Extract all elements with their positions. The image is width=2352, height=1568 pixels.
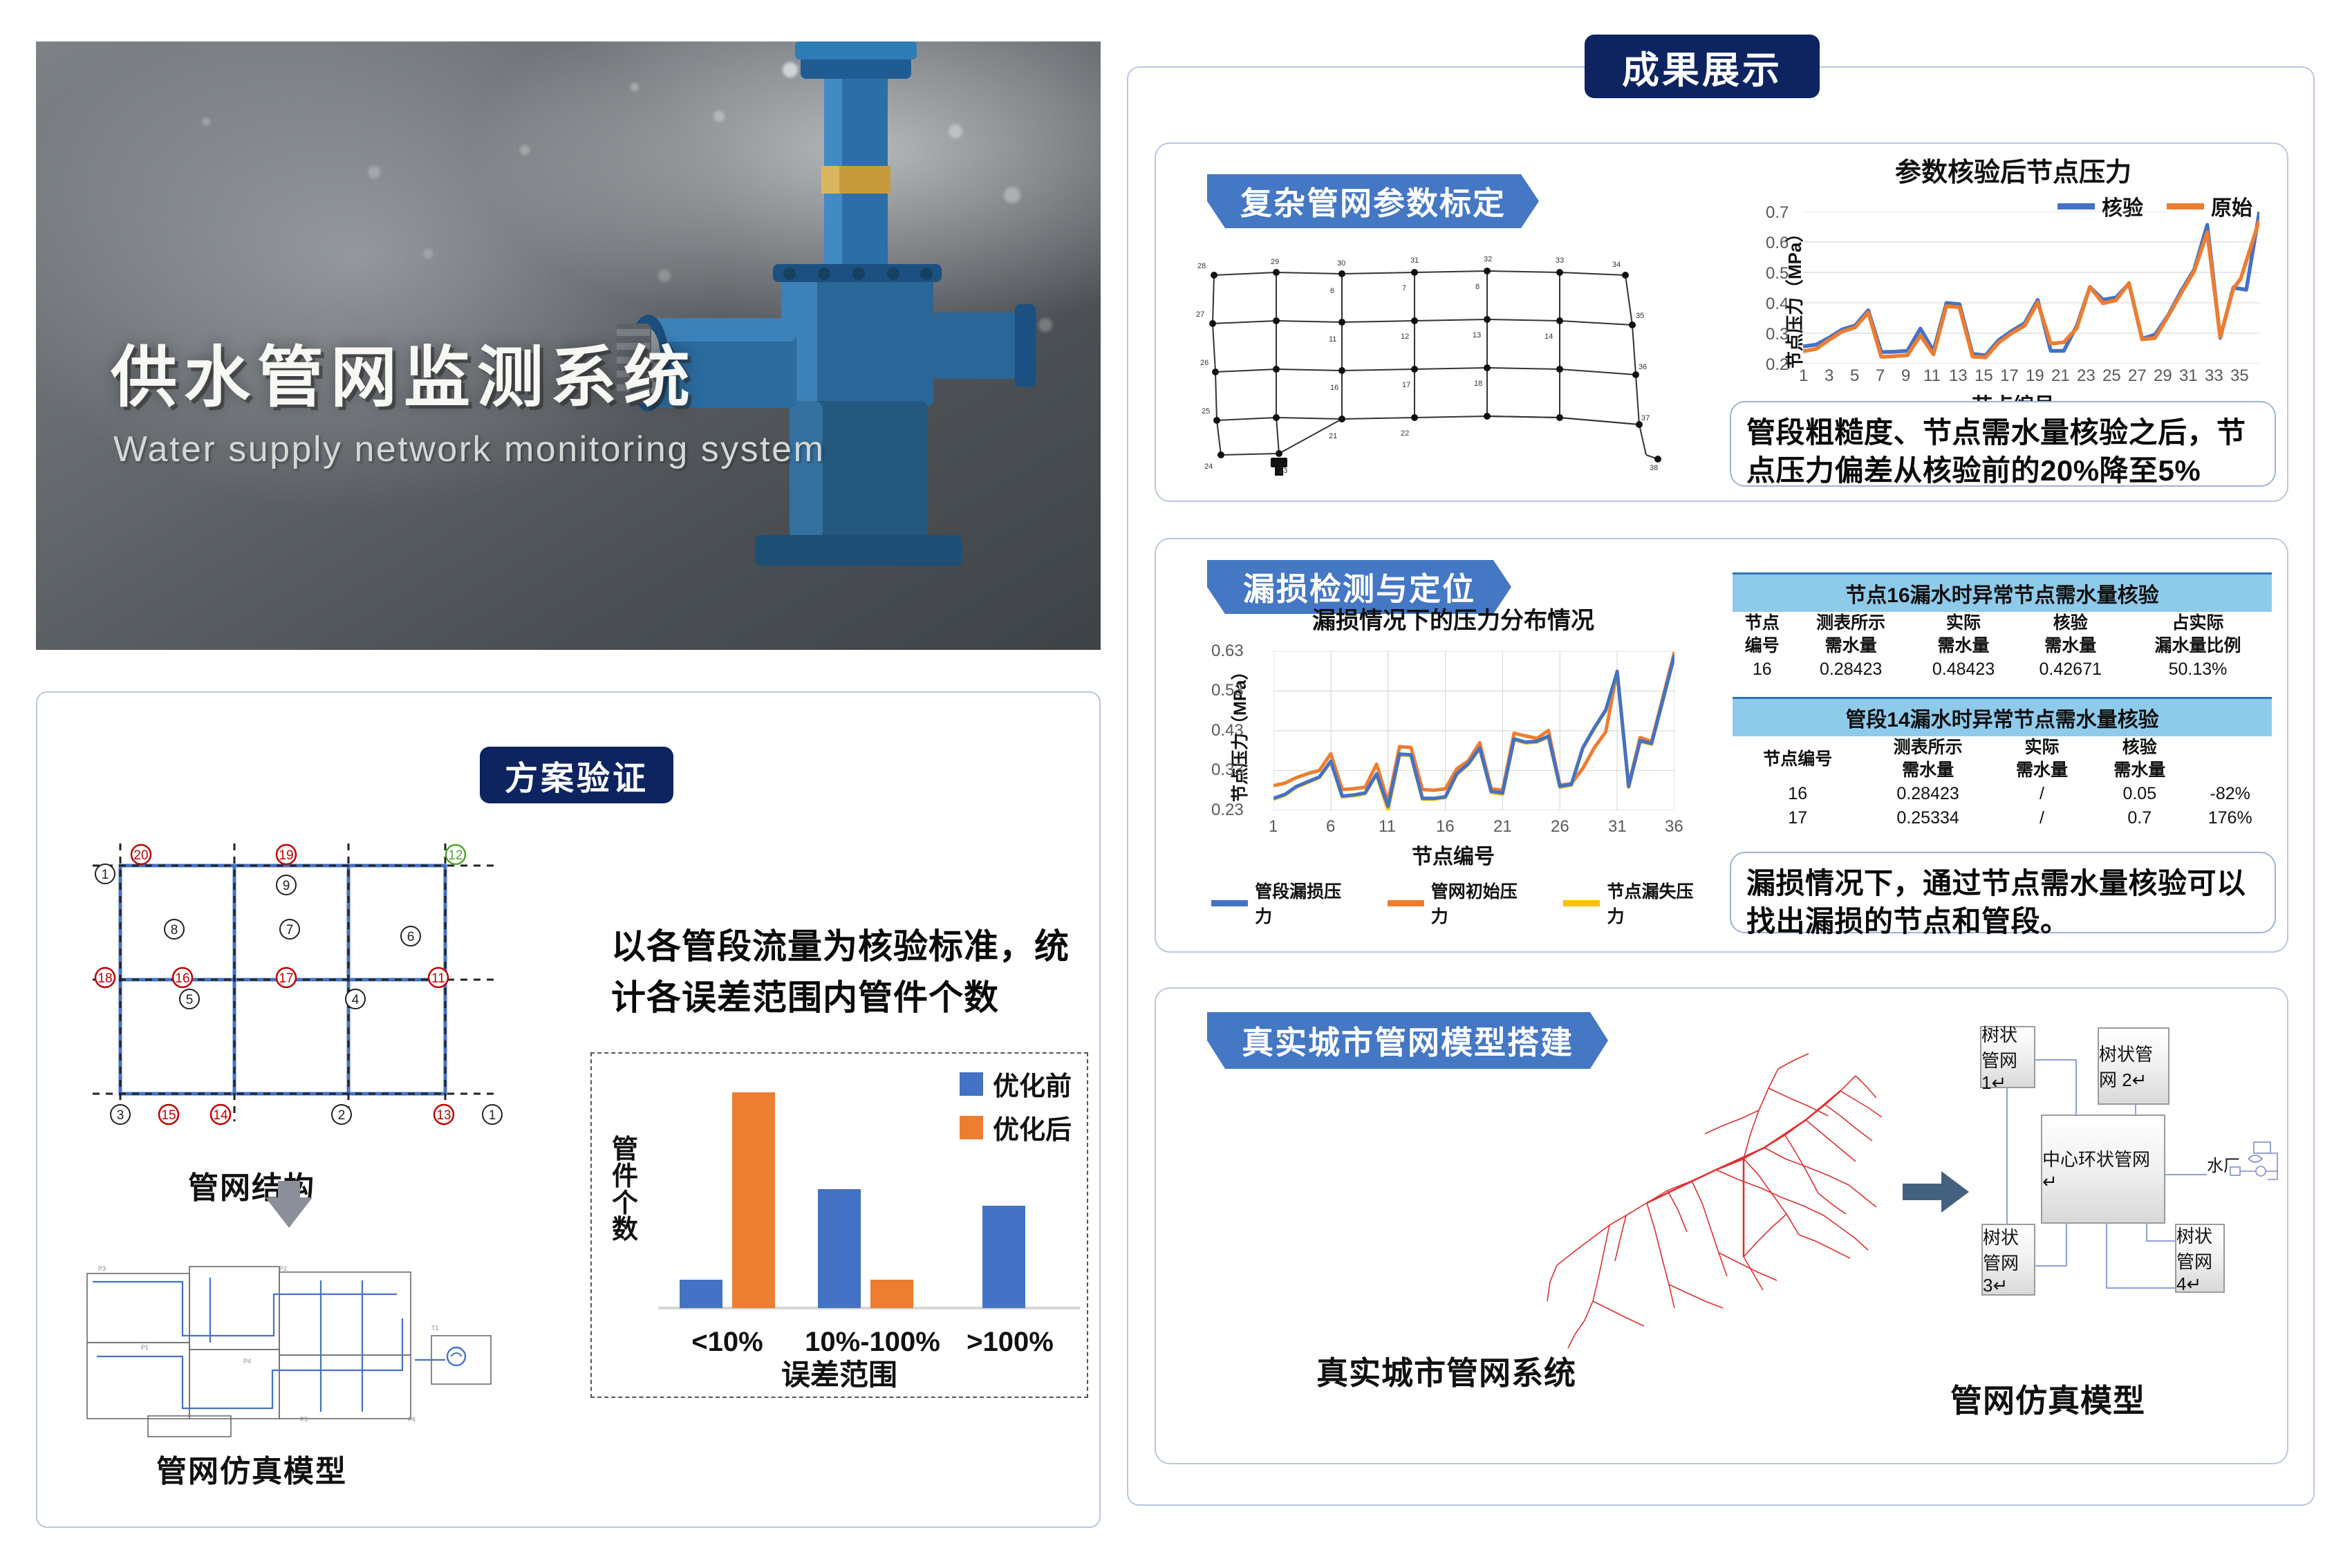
pipe-network-simulation-diagram: P3P2 P1P4 P5P6 T1 — [72, 1253, 528, 1446]
hero-subtitle: Water supply network monitoring system — [113, 429, 825, 470]
table2-cell-1-4: 176% — [2188, 806, 2272, 830]
svg-text:37: 37 — [1641, 414, 1650, 422]
arrow-down-icon — [265, 1197, 312, 1228]
connector-2 — [2075, 1059, 2077, 1114]
table2-cell-0-4: -82% — [2188, 782, 2272, 806]
chart1-xtick-17: 35 — [2230, 366, 2249, 386]
table2-cell-0-1: 0.28423 — [1863, 782, 1992, 806]
section-city-model: 真实城市管网模型搭建 — [1155, 987, 2288, 1464]
svg-text:14: 14 — [1544, 333, 1553, 341]
bar-post-0 — [732, 1092, 775, 1308]
table1-cell-0-3: 0.42671 — [2017, 657, 2124, 682]
section2-conclusion: 漏损情况下，通过节点需水量核验可以找出漏损的节点和管段。 — [1730, 852, 2276, 933]
bar-group-2 — [935, 1081, 1073, 1308]
chart1-ytick-0: 0.2 — [1766, 355, 1789, 375]
pipe-network-structure-diagram: 20 19 12 1 9 8 7 6 18 16 17 11 5 4 3 15 … — [79, 831, 521, 1156]
bar-chart-xlabel: 误差范围 — [592, 1352, 1087, 1394]
svg-text:5: 5 — [186, 993, 194, 1007]
table2-title: 管段14漏水时异常节点需水量核验 — [1733, 698, 2272, 737]
table1-header-top-3: 核验 — [2017, 612, 2124, 635]
table2-cell-1-3: 0.7 — [2091, 806, 2188, 830]
connector-8 — [2106, 1287, 2175, 1289]
svg-text:11: 11 — [1329, 335, 1336, 344]
table2-header-bottom-1: 需水量 — [1863, 759, 1992, 782]
chart1-ytick-3: 0.5 — [1766, 264, 1789, 283]
table1-title: 节点16漏水时异常节点需水量核验 — [1733, 574, 2272, 613]
chart2-ytick-2: 0.43 — [1211, 721, 1244, 740]
svg-text:1: 1 — [489, 1108, 496, 1123]
block-label-central: 中心环状管网↵ — [2042, 1146, 2164, 1193]
chart2-xtick-0: 1 — [1269, 817, 1278, 837]
table2-cell-0-2: / — [1993, 782, 2091, 806]
sec1-banner: 复杂管网参数标定 — [1207, 174, 1539, 228]
error-range-bar-chart: 优化前 优化后 管件个数 — [590, 1052, 1088, 1398]
node-pressure-chart: 参数核验后节点压力 节点压力（MPa） 核验 原始 — [1751, 151, 2276, 427]
svg-text:9: 9 — [283, 879, 290, 893]
connector-10 — [2146, 1240, 2176, 1242]
table1-header-top-2: 实际 — [1910, 612, 2017, 635]
svg-text:31: 31 — [1410, 256, 1419, 265]
svg-text:T1: T1 — [431, 1325, 439, 1332]
table1-cell-0-4: 50.13% — [2124, 657, 2272, 682]
table2-cell-1-0: 17 — [1733, 806, 1863, 830]
bar-pre-0 — [680, 1280, 722, 1308]
svg-text:P5: P5 — [300, 1416, 308, 1423]
bar-group-0 — [658, 1081, 796, 1308]
svg-text:P6: P6 — [408, 1416, 416, 1423]
legend-item-pipe-leak: 管段漏损压力 — [1211, 878, 1357, 928]
table2-cell-0-0: 16 — [1733, 782, 1863, 806]
table1-header-top-1: 测表所示 — [1792, 612, 1910, 635]
chart2-xtick-2: 11 — [1379, 817, 1396, 837]
chart1-xtick-11: 23 — [2077, 366, 2096, 386]
chart1-ytick-2: 0.4 — [1766, 295, 1789, 314]
svg-text:P1: P1 — [141, 1344, 149, 1351]
chart1-ytick-4: 0.6 — [1766, 234, 1789, 253]
chart1-xtick-9: 19 — [2026, 366, 2044, 386]
svg-text:29: 29 — [1271, 258, 1279, 266]
legend-item-node-loss: 节点漏失压力 — [1563, 878, 1709, 928]
city-network-map — [1543, 1030, 1903, 1355]
legend-line-initial — [1388, 900, 1424, 906]
svg-text:24: 24 — [1204, 463, 1213, 471]
table2-header-top-3: 核验 — [2091, 736, 2188, 759]
hero-image: 供水管网监测系统 Water supply network monitoring… — [36, 41, 1101, 650]
svg-text:25: 25 — [1202, 407, 1210, 416]
results-badge: 成果展示 — [1585, 35, 1820, 98]
chart2-xtick-1: 6 — [1326, 817, 1335, 837]
svg-text:13: 13 — [436, 1108, 451, 1123]
svg-text:4: 4 — [352, 993, 360, 1007]
table-row: 16 0.28423 / 0.05 -82% — [1733, 782, 2272, 806]
svg-text:18: 18 — [97, 971, 112, 986]
table-pipe14-leak: 管段14漏水时异常节点需水量核验 节点编号 测表所示 实际 核验 需水量 需水量… — [1733, 697, 2272, 830]
svg-text:19: 19 — [279, 848, 293, 863]
table-row: 17 0.25334 / 0.7 176% — [1733, 806, 2272, 830]
table2-header-top-4 — [2188, 736, 2272, 759]
block-tree-network-1: 树状管网 1↵ — [1980, 1026, 2035, 1088]
svg-text:2: 2 — [338, 1108, 346, 1123]
svg-text:16: 16 — [175, 971, 189, 986]
bar-pre-2 — [982, 1206, 1025, 1308]
legend-label-pipe-leak: 管段漏损压力 — [1255, 878, 1357, 928]
svg-text:35: 35 — [1636, 312, 1644, 320]
table1-header-bottom-1: 需水量 — [1792, 635, 1910, 657]
bar-post-1 — [870, 1280, 913, 1308]
svg-text:22: 22 — [1401, 429, 1409, 438]
table2-cell-1-2: / — [1993, 806, 2091, 830]
leak-pressure-chart: 漏损情况下的压力分布情况 节点压力（MPa） — [1197, 601, 1709, 933]
connector-11 — [2165, 1174, 2207, 1175]
svg-text:26: 26 — [1200, 359, 1208, 367]
svg-text:P3: P3 — [98, 1265, 106, 1272]
chart1-xtick-1: 3 — [1824, 366, 1833, 386]
svg-text:13: 13 — [1473, 331, 1481, 339]
chart1-ytick-5: 0.7 — [1766, 203, 1789, 223]
table-node16-leak: 节点16漏水时异常节点需水量核验 节点 测表所示 实际 核验 占实际 编号 需水… — [1733, 572, 2272, 682]
scheme-description: 以各管段流量为核验标准，统计各误差范围内管件个数 — [611, 921, 1095, 1023]
left-column: 供水管网监测系统 Water supply network monitoring… — [36, 41, 1101, 1528]
svg-text:1: 1 — [102, 868, 109, 882]
block-label-tree-3: 树状管网 3↵ — [1983, 1224, 2034, 1296]
bar-chart-plot — [658, 1081, 1074, 1308]
block-label-tree-1: 树状管网 1↵ — [1981, 1021, 2034, 1094]
section-parameter-calibration: 复杂管网参数标定 — [1155, 142, 2288, 502]
chart1-xtick-16: 33 — [2205, 366, 2223, 386]
city-network-label: 真实城市管网系统 — [1267, 1348, 1626, 1394]
chart1-plot — [1803, 212, 2259, 364]
chart1-ytick-1: 0.3 — [1766, 325, 1789, 344]
chart1-xtick-13: 27 — [2128, 366, 2147, 386]
svg-text:3: 3 — [117, 1108, 124, 1123]
legend-line-calibrated — [2057, 203, 2095, 209]
block-central-loop-network: 中心环状管网↵ — [2041, 1114, 2165, 1224]
legend-line-node-loss — [1563, 900, 1600, 906]
chart2-title: 漏损情况下的压力分布情况 — [1197, 601, 1709, 635]
svg-text:6: 6 — [407, 930, 415, 944]
svg-text:32: 32 — [1484, 255, 1492, 263]
block-tree-network-4: 树状管网 4↵ — [2175, 1224, 2225, 1293]
block-tree-network-2: 树状管网 2↵ — [2098, 1027, 2169, 1105]
bar-group-1 — [796, 1081, 935, 1308]
table1-cell-0-2: 0.48423 — [1910, 657, 2017, 682]
connector-9 — [2146, 1224, 2147, 1242]
chart2-ytick-3: 0.53 — [1211, 681, 1244, 700]
chart2-xtick-6: 31 — [1608, 817, 1627, 837]
svg-text:36: 36 — [1639, 363, 1647, 371]
connector-3 — [2006, 1085, 2008, 1224]
legend-line-original — [2167, 203, 2204, 209]
chart2-ytick-0: 0.23 — [1211, 801, 1244, 820]
svg-text:P2: P2 — [279, 1265, 287, 1272]
table2-header-node: 节点编号 — [1733, 736, 1863, 782]
svg-text:14: 14 — [213, 1108, 228, 1123]
table1-header-top-4: 占实际 — [2124, 612, 2272, 635]
chart2-xlabel: 节点编号 — [1197, 839, 1709, 870]
table2-header-bottom-4 — [2188, 759, 2272, 782]
table2-header-bottom-2: 需水量 — [1993, 759, 2091, 782]
legend-item-initial: 管网初始压力 — [1388, 878, 1533, 928]
svg-text:7: 7 — [1402, 284, 1406, 292]
chart1-xtick-15: 31 — [2179, 366, 2198, 386]
legend-line-pipe-leak — [1211, 900, 1248, 906]
svg-text:27: 27 — [1196, 310, 1204, 319]
chart2-ytick-1: 0.33 — [1211, 760, 1244, 780]
svg-text:7: 7 — [286, 923, 294, 937]
scheme-validation-card: 方案验证 20 19 12 1 — [36, 691, 1101, 1528]
chart2-xtick-3: 16 — [1436, 817, 1455, 837]
svg-text:8: 8 — [1475, 283, 1480, 291]
chart1-xtick-2: 5 — [1850, 366, 1859, 386]
chart1-xtick-10: 21 — [2051, 366, 2070, 386]
legend-label-node-loss: 节点漏失压力 — [1607, 878, 1709, 928]
svg-text:20: 20 — [133, 848, 148, 863]
table1-header-bottom-0: 编号 — [1733, 635, 1792, 657]
svg-text:15: 15 — [161, 1108, 176, 1123]
block-label-tree-2: 树状管网 2↵ — [2099, 1040, 2168, 1092]
svg-text:33: 33 — [1556, 256, 1564, 265]
chart2-legend: 管段漏损压力 管网初始压力 节点漏失压力 — [1211, 878, 1709, 928]
svg-text:16: 16 — [1330, 384, 1338, 392]
table2-header-top-1: 测表所示 — [1863, 736, 1992, 759]
connector-7 — [2106, 1224, 2107, 1289]
table1-header-bottom-4: 漏水量比例 — [2124, 635, 2272, 657]
svg-text:34: 34 — [1612, 261, 1621, 269]
legend-label-initial: 管网初始压力 — [1431, 878, 1533, 928]
simulation-model-label: 管网仿真模型 — [1854, 1376, 2241, 1421]
chart2-ytick-4: 0.63 — [1211, 642, 1244, 661]
svg-text:23: 23 — [1279, 467, 1287, 475]
table1-cell-0-1: 0.28423 — [1792, 657, 1910, 682]
chart2-xtick-7: 36 — [1665, 817, 1683, 837]
svg-text:6: 6 — [1330, 287, 1334, 295]
chart1-xtick-8: 17 — [2000, 366, 2019, 386]
hero-title: 供水管网监测系统 — [111, 324, 697, 420]
table2-header-bottom-3: 需水量 — [2091, 759, 2188, 782]
chart1-xtick-3: 7 — [1876, 366, 1885, 386]
svg-text:18: 18 — [1474, 380, 1482, 388]
svg-text:17: 17 — [279, 971, 293, 986]
chart1-xtick-7: 15 — [1975, 366, 1993, 386]
connector-5 — [2066, 1224, 2067, 1267]
simulation-block-diagram: 树状管网 1↵ 树状管网 2↵ 中心环状管网↵ 树状管网 3↵ 树状管网 4↵ … — [1937, 1016, 2283, 1362]
pipe-sim-label: 管网仿真模型 — [58, 1446, 445, 1491]
block-tree-network-3: 树状管网 3↵ — [1981, 1224, 2035, 1296]
pipe-structure-label: 管网结构 — [58, 1163, 445, 1207]
table2-header-top-2: 实际 — [1993, 736, 2091, 759]
table2-cell-0-3: 0.05 — [2091, 782, 2188, 806]
chart2-xtick-4: 21 — [1493, 817, 1512, 837]
svg-text:28: 28 — [1197, 262, 1206, 270]
svg-text:11: 11 — [431, 971, 445, 986]
table2-cell-1-1: 0.25334 — [1863, 806, 1992, 830]
scheme-validation-badge: 方案验证 — [480, 747, 673, 803]
svg-text:8: 8 — [171, 923, 178, 937]
results-panel: 成果展示 复杂管网参数标定 — [1127, 66, 2315, 1506]
section1-conclusion: 管段粗糙度、节点需水量核验之后，节点压力偏差从核验前的20%降至5% — [1730, 401, 2276, 487]
table1-header-bottom-3: 需水量 — [2017, 635, 2124, 657]
chart1-xtick-14: 29 — [2154, 366, 2172, 386]
chart1-xtick-0: 1 — [1799, 366, 1808, 386]
grid-network-diagram: 282930 313233 34 2735 2636 2537 242338 6… — [1193, 248, 1677, 483]
chart1-xtick-12: 25 — [2102, 366, 2121, 386]
bar-chart-ylabel: 管件个数 — [604, 1137, 646, 1244]
chart2-plot — [1273, 651, 1674, 810]
table1-cell-0-0: 16 — [1733, 657, 1792, 682]
chart1-title: 参数核验后节点压力 — [1751, 151, 2276, 189]
svg-text:30: 30 — [1337, 259, 1345, 268]
svg-text:38: 38 — [1650, 464, 1658, 472]
chart1-xtick-5: 11 — [1923, 366, 1941, 386]
chart1-xtick-6: 13 — [1949, 366, 1968, 386]
svg-text:21: 21 — [1329, 432, 1337, 440]
svg-text:12: 12 — [1401, 333, 1409, 341]
table1-header-top-0: 节点 — [1733, 612, 1792, 635]
block-label-tree-4: 树状管网 4↵ — [2176, 1222, 2223, 1295]
table-row: 16 0.28423 0.48423 0.42671 50.13% — [1733, 657, 2272, 682]
waterworks-icon — [2228, 1141, 2287, 1196]
section-leak-detection: 漏损检测与定位 漏损情况下的压力分布情况 节点压力（MPa） — [1155, 538, 2288, 953]
bar-pre-1 — [818, 1189, 861, 1308]
chart1-xtick-4: 9 — [1901, 366, 1910, 386]
svg-text:17: 17 — [1402, 381, 1410, 389]
table1-header-bottom-2: 需水量 — [1910, 635, 2017, 657]
chart2-xtick-5: 26 — [1551, 817, 1569, 837]
svg-text:P4: P4 — [243, 1358, 251, 1365]
svg-text:12: 12 — [448, 848, 463, 863]
